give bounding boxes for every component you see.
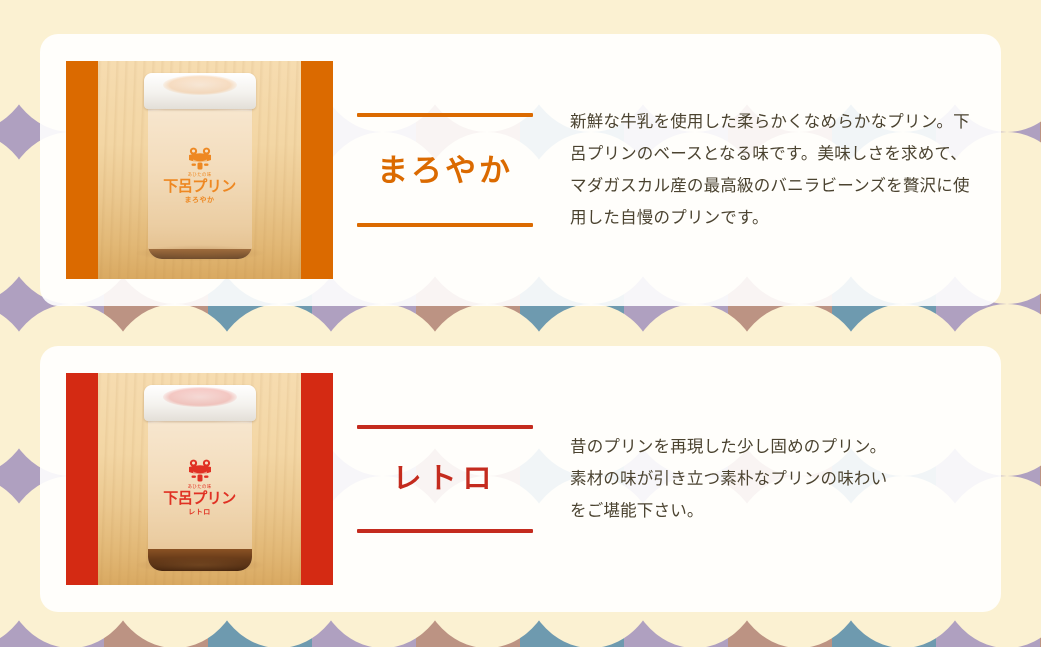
jar-label-tagline: あひたの味 — [157, 173, 243, 178]
pudding-jar-illustration: あひたの味 下呂プリン まろやか — [144, 73, 256, 265]
jar-label-flavor: まろやか — [157, 197, 243, 204]
title-rule-bottom — [357, 223, 533, 227]
jar-label-maroyaka: あひたの味 下呂プリン まろやか — [157, 147, 243, 204]
photo-side-bar-right — [301, 373, 333, 585]
title-rule-top — [357, 425, 533, 429]
product-description: 昔のプリンを再現した少し固めのプリン。 素材の味が引き立つ素朴なプリンの味わい … — [570, 431, 977, 528]
lid-print-ring — [163, 387, 237, 407]
product-title: まろやか — [357, 143, 533, 197]
frog-icon — [187, 459, 213, 483]
jar-label-brand: 下呂プリン — [157, 179, 243, 194]
product-description: 新鮮な牛乳を使用した柔らかくなめらかなプリン。下呂プリンのベースとなる味です。美… — [570, 106, 977, 235]
title-block-maroyaka: まろやか — [357, 113, 533, 227]
photo-side-bar-right — [301, 61, 333, 279]
title-block-retro: レトロ — [357, 425, 533, 533]
pudding-jar-illustration: あひたの味 下呂プリン レトロ — [144, 385, 256, 577]
jar-drop-shadow — [136, 245, 264, 261]
jar-label-brand: 下呂プリン — [157, 491, 243, 506]
photo-side-bar-left — [66, 61, 98, 279]
product-title: レトロ — [357, 453, 533, 505]
jar-label-tagline: あひたの味 — [157, 485, 243, 490]
jar-label-retro: あひたの味 下呂プリン レトロ — [157, 459, 243, 516]
product-photo-maroyaka: あひたの味 下呂プリン まろやか — [66, 61, 333, 279]
lid-print-ring — [163, 75, 237, 95]
product-photo-retro: あひたの味 下呂プリン レトロ — [66, 373, 333, 585]
jar-drop-shadow — [136, 557, 264, 573]
product-card-maroyaka: あひたの味 下呂プリン まろやか まろやか 新鮮な牛乳を使用した柔らかくなめらか… — [40, 34, 1001, 306]
title-rule-top — [357, 113, 533, 117]
jar-lid — [144, 73, 256, 109]
jar-lid — [144, 385, 256, 421]
product-card-retro: あひたの味 下呂プリン レトロ レトロ 昔のプリンを再現した少し固めのプリン。 … — [40, 346, 1001, 612]
jar-label-flavor: レトロ — [157, 509, 243, 516]
photo-side-bar-left — [66, 373, 98, 585]
frog-icon — [187, 147, 213, 171]
title-rule-bottom — [357, 529, 533, 533]
